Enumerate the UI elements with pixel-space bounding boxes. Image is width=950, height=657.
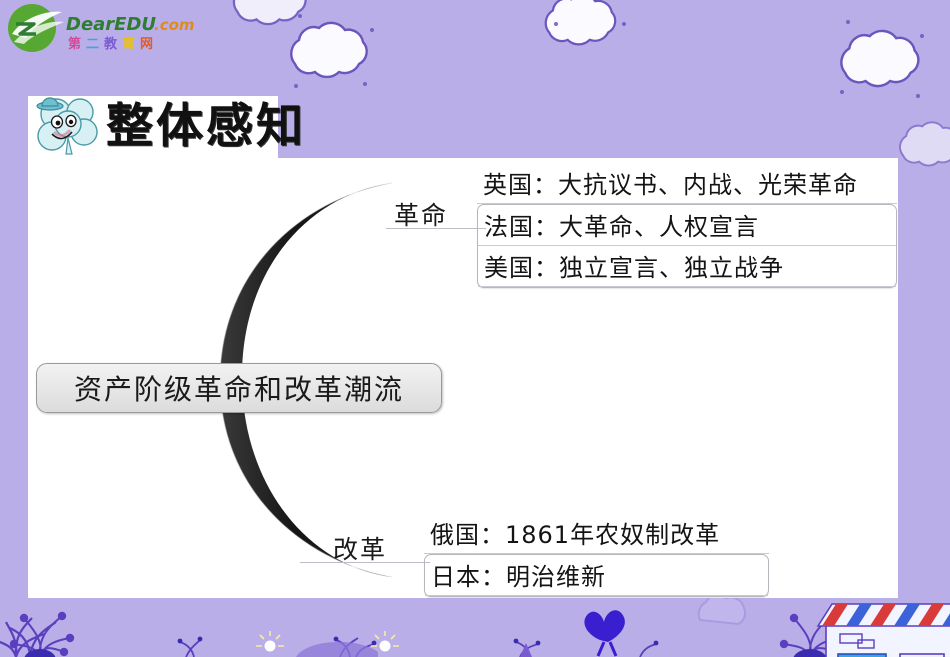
- leaf-item-russia[interactable]: 俄国：1861年农奴制改革: [424, 513, 769, 554]
- slide-canvas: DearEDU .com 第 二 教 育 网: [0, 0, 950, 657]
- svg-text:教: 教: [103, 36, 118, 52]
- branch-label-revolution: 革命: [394, 196, 448, 232]
- svg-text:育: 育: [122, 36, 135, 52]
- leaf-item-france[interactable]: 法国：大革命、人权宣言: [478, 205, 896, 246]
- leaf-box-reform: 日本：明治维新: [424, 554, 769, 597]
- branch-label-reform: 改革: [333, 530, 387, 566]
- leaf-group-reform: 俄国：1861年农奴制改革 日本：明治维新: [424, 513, 769, 597]
- root-node-label: 资产阶级革命和改革潮流: [74, 368, 404, 408]
- svg-text:网: 网: [140, 37, 153, 52]
- section-title: 整体感知: [106, 96, 306, 158]
- leaf-item-usa[interactable]: 美国：独立宣言、独立战争: [478, 246, 896, 287]
- shop-icon: [818, 604, 950, 657]
- brand-logo[interactable]: DearEDU .com 第 二 教 育 网: [4, 2, 199, 58]
- leaf-box-revolution: 法国：大革命、人权宣言 美国：独立宣言、独立战争: [477, 204, 897, 288]
- root-node[interactable]: 资产阶级革命和改革潮流: [36, 363, 442, 413]
- brand-domain: .com: [154, 16, 195, 34]
- leaf-item-uk[interactable]: 英国：大抗议书、内战、光荣革命: [477, 163, 897, 204]
- brand-text: DearEDU: [66, 14, 156, 35]
- section-banner: 整体感知: [28, 96, 278, 158]
- leaf-group-revolution: 英国：大抗议书、内战、光荣革命 法国：大革命、人权宣言 美国：独立宣言、独立战争: [477, 163, 897, 288]
- svg-text:第: 第: [68, 36, 81, 52]
- svg-text:二: 二: [86, 37, 99, 52]
- clover-mascot-icon: [30, 96, 112, 158]
- leaf-item-japan[interactable]: 日本：明治维新: [425, 555, 768, 596]
